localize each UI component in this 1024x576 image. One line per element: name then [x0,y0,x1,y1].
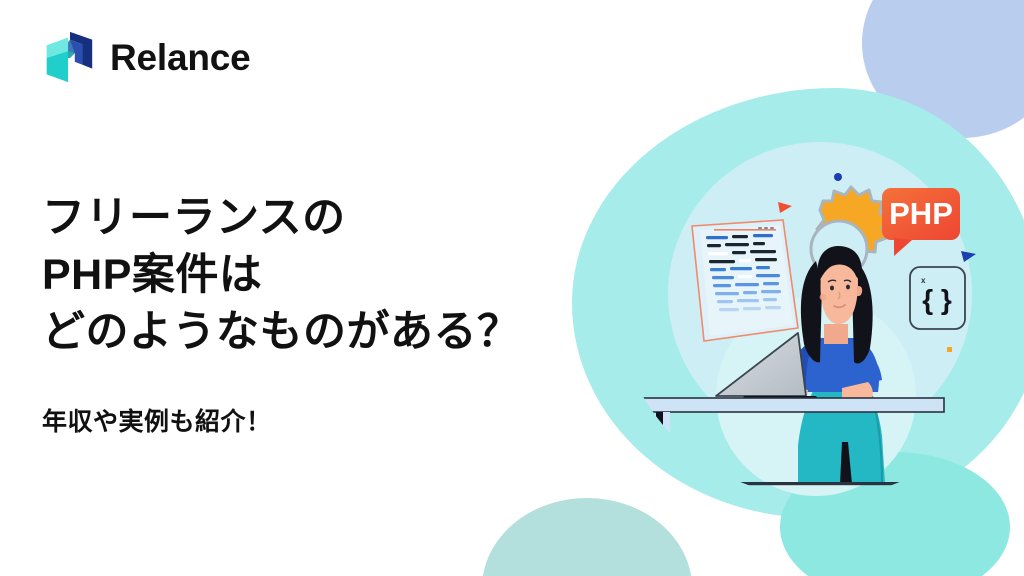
accent-dot-blue [834,173,842,181]
brand-name: Relance [110,39,251,76]
code-brackets-card: x { } [910,267,965,329]
hero-banner: Relance フリーランスの PHP案件は どのようなものがある？ 年収や実例… [0,0,1024,576]
hero-illustration: PHP x { } [620,96,1024,504]
page-title: フリーランスの PHP案件は どのようなものがある？ [42,190,521,362]
relance-cube-logo-icon [40,28,98,86]
brand-logo[interactable]: Relance [40,28,251,86]
page-subtitle: 年収や実例も紹介！ [42,402,272,438]
php-badge-label: PHP [889,196,953,231]
code-card-label: { } [922,284,952,315]
code-editor-panel [692,220,798,341]
accent-square-orange [947,347,952,352]
blob-mint-bottom-center [482,498,692,576]
